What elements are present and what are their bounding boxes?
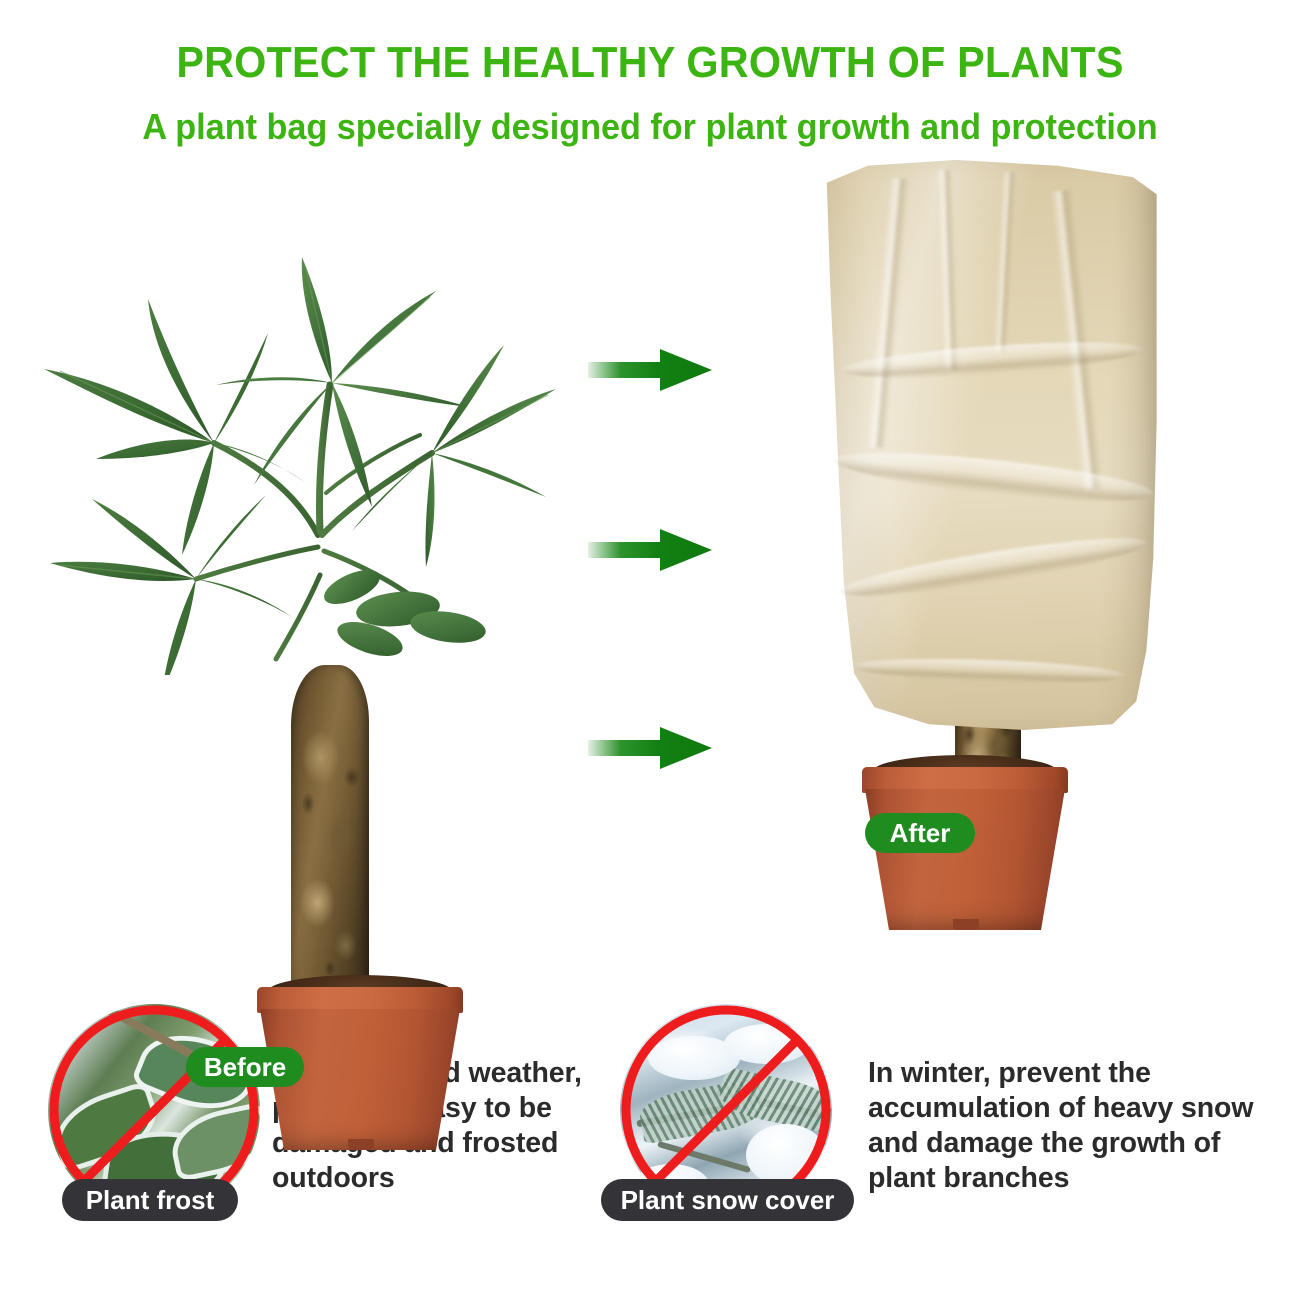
plant-snow-description: In winter, prevent the accumulation of h…: [868, 1056, 1268, 1196]
pot-drain-notch: [348, 1139, 374, 1150]
page-title: PROTECT THE HEALTHY GROWTH OF PLANTS: [39, 38, 1261, 88]
plant-trunk: [291, 665, 369, 995]
arrow-right-icon-1: [588, 348, 712, 392]
plant-snow-badge: Plant snow cover: [601, 1179, 854, 1221]
pot-drain-notch-covered: [953, 919, 979, 930]
before-panel: Before: [0, 235, 560, 920]
plant-foliage: [0, 235, 560, 665]
pot-body-covered: [865, 789, 1065, 930]
foliage-svg: [0, 235, 560, 675]
fleece-plant-bag: [820, 160, 1160, 730]
arrow-right-icon-3: [588, 726, 712, 770]
money-tree-plant-photo: [0, 235, 560, 920]
after-badge: After: [865, 813, 975, 853]
after-panel: After: [790, 160, 1190, 930]
plant-frost-badge: Plant frost: [62, 1179, 238, 1221]
before-badge: Before: [186, 1047, 304, 1087]
page-subtitle: A plant bag specially designed for plant…: [33, 106, 1268, 148]
arrow-right-icon-2: [588, 528, 712, 572]
